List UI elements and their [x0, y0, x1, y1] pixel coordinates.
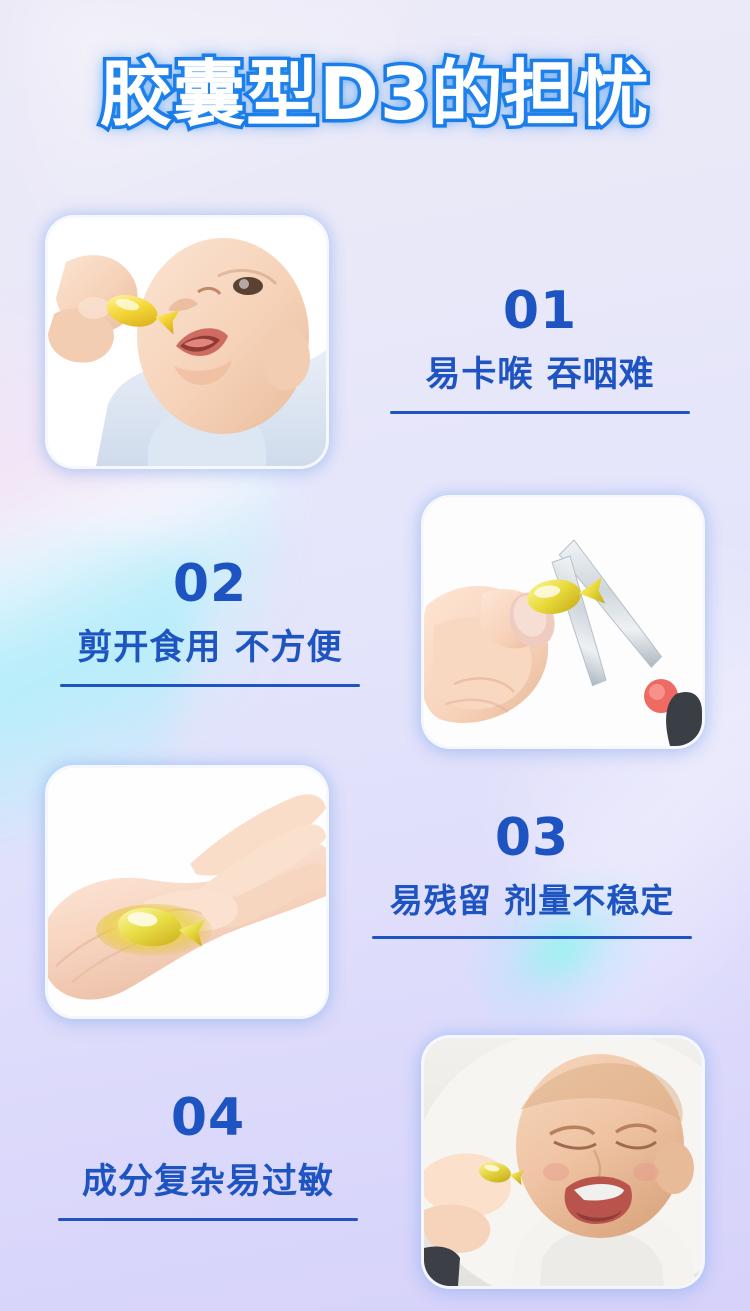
photo-3-illustration — [48, 768, 326, 1016]
item-block-02: 02 剪开食用 不方便 — [40, 558, 380, 687]
item-block-01: 01 易卡喉 吞咽难 — [370, 285, 710, 414]
item-number-02: 02 — [40, 558, 380, 610]
item-caption-01: 易卡喉 吞咽难 — [370, 355, 710, 395]
page-title-container: 胶囊型D3的担忧 — [0, 58, 750, 130]
item-caption-03: 易残留 剂量不稳定 — [362, 882, 702, 920]
item-block-03: 03 易残留 剂量不稳定 — [362, 812, 702, 939]
item-underline-03 — [372, 936, 692, 939]
photo-scissors-cutting-capsule — [424, 498, 702, 746]
photo-4-illustration — [424, 1038, 702, 1286]
photo-crying-baby — [424, 1038, 702, 1286]
photo-2-illustration — [424, 498, 702, 746]
item-number-04: 04 — [38, 1092, 378, 1144]
photo-1-illustration — [48, 218, 326, 466]
item-caption-02: 剪开食用 不方便 — [40, 628, 380, 668]
page-title: 胶囊型D3的担忧 — [100, 58, 650, 130]
item-number-03: 03 — [362, 812, 702, 864]
item-underline-02 — [60, 684, 360, 687]
photo-baby-swallowing-capsule — [48, 218, 326, 466]
item-number-01: 01 — [370, 285, 710, 337]
item-underline-04 — [58, 1218, 358, 1221]
item-underline-01 — [390, 411, 690, 414]
item-caption-04: 成分复杂易过敏 — [38, 1162, 378, 1202]
photo-palm-with-oil-residue — [48, 768, 326, 1016]
item-block-04: 04 成分复杂易过敏 — [38, 1092, 378, 1221]
